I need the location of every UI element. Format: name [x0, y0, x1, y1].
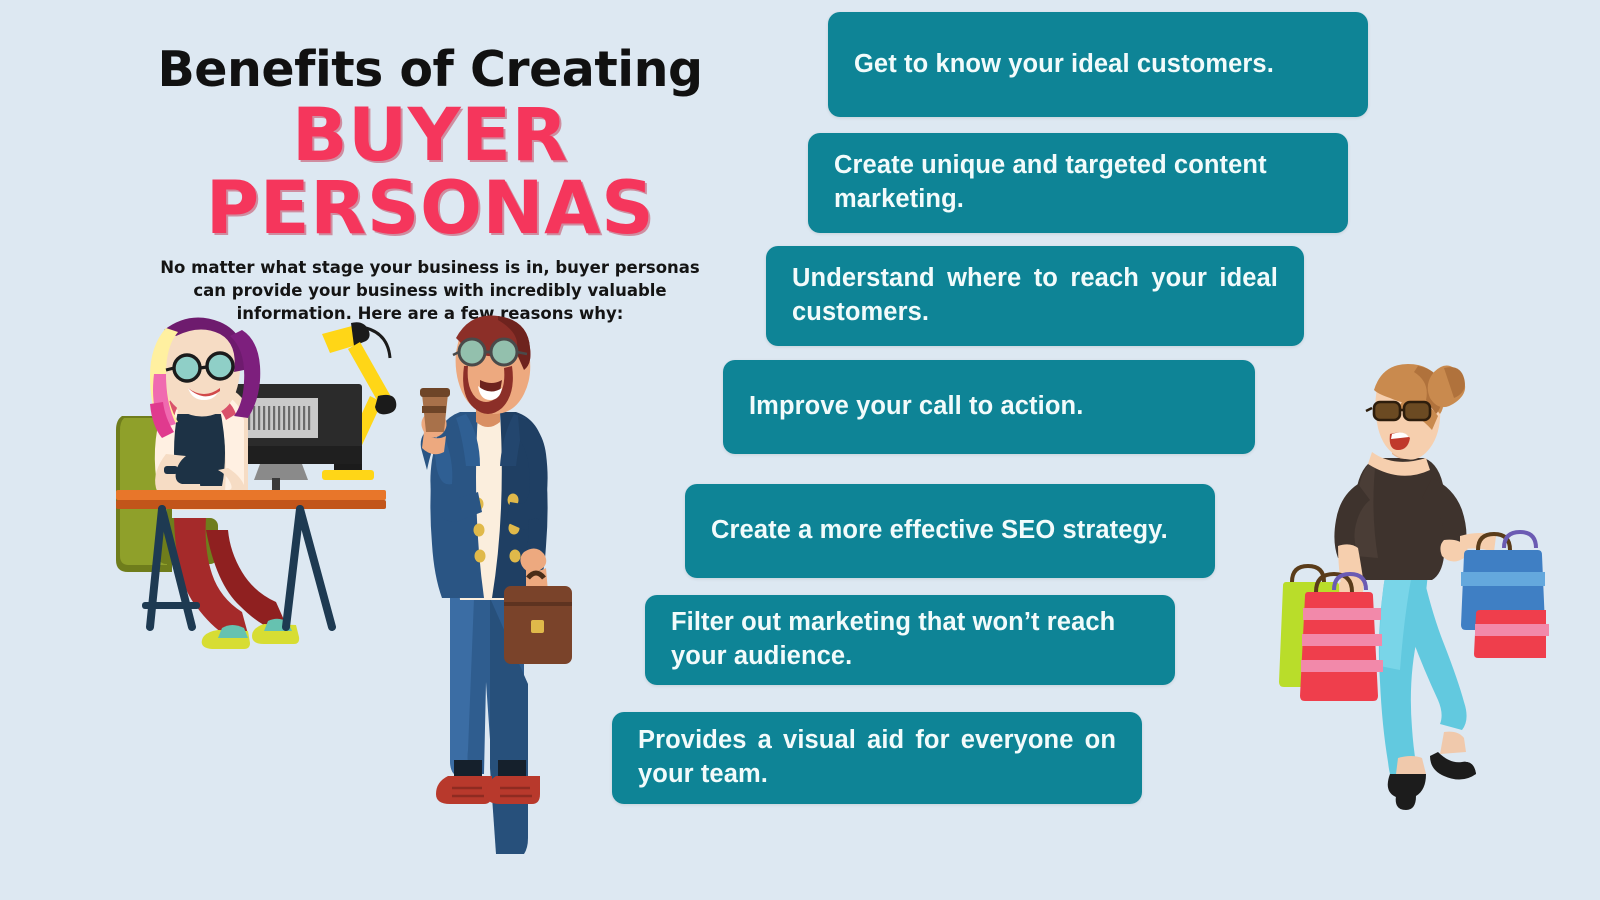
benefit-card-targeted-content[interactable]: Create unique and targeted content marke… [808, 133, 1348, 233]
benefit-card-label: Filter out marketing that won’t reach yo… [671, 606, 1149, 673]
benefit-card-filter-marketing[interactable]: Filter out marketing that won’t reach yo… [645, 595, 1175, 685]
benefit-card-know-customers[interactable]: Get to know your ideal customers. [828, 12, 1368, 117]
benefit-card-call-to-action[interactable]: Improve your call to action. [723, 360, 1255, 454]
benefit-card-seo-strategy[interactable]: Create a more effective SEO strategy. [685, 484, 1215, 578]
page-title-line2: BUYER PERSONAS [80, 99, 780, 245]
shopper-woman-svg [1246, 360, 1546, 830]
benefit-card-visual-aid[interactable]: Provides a visual aid for everyone on yo… [612, 712, 1142, 804]
shopping-bags-right [1461, 532, 1549, 658]
woman-at-desk-svg [110, 318, 400, 648]
businessman-svg [398, 308, 583, 820]
briefcase-icon [504, 573, 572, 664]
infographic-canvas: Benefits of Creating BUYER PERSONAS No m… [0, 0, 1600, 900]
illustration-shopper-woman [1246, 360, 1546, 830]
page-title-line1: Benefits of Creating [80, 44, 780, 95]
illustration-businessman [398, 308, 583, 820]
sunglasses-icon [1366, 402, 1430, 420]
heading-block: Benefits of Creating BUYER PERSONAS No m… [80, 44, 780, 326]
illustration-woman-at-desk [110, 318, 400, 648]
benefit-card-label: Improve your call to action. [749, 390, 1083, 424]
benefit-card-label: Create a more effective SEO strategy. [711, 514, 1168, 548]
benefit-card-label: Provides a visual aid for everyone on yo… [638, 724, 1116, 791]
benefit-card-label: Understand where to reach your ideal cus… [792, 262, 1278, 329]
benefit-card-label: Create unique and targeted content marke… [834, 149, 1322, 216]
benefit-card-label: Get to know your ideal customers. [854, 48, 1274, 82]
benefit-card-where-to-reach[interactable]: Understand where to reach your ideal cus… [766, 246, 1304, 346]
shopping-bags-left [1279, 566, 1383, 701]
